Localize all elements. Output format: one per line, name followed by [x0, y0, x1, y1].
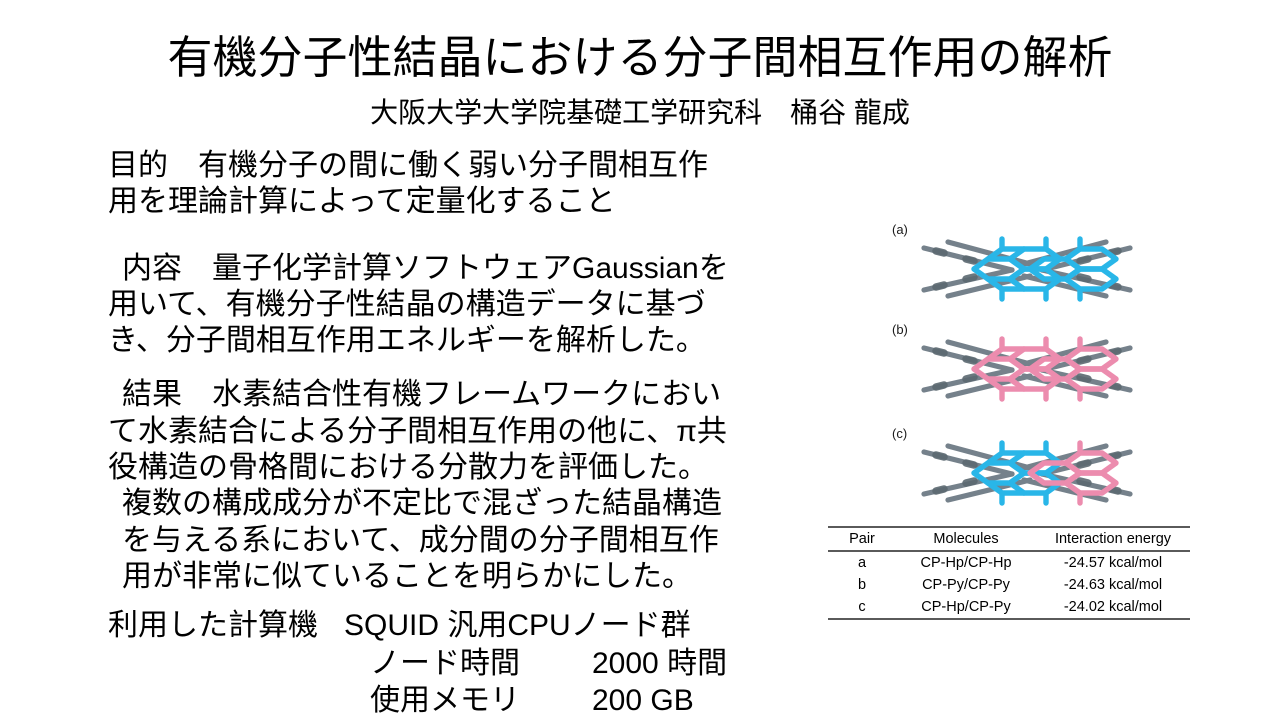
content-line-2: 用いて、有機分子性結晶の構造データに基づ [108, 287, 808, 323]
resource-row: ノード時間2000 時間 [108, 646, 868, 682]
result-line-5: を与える系において、成分間の分子間相互作 [108, 523, 808, 559]
content-line-1: 内容 量子化学計算ソフトウェアGaussianを [108, 251, 808, 287]
table-header-interaction-energy: Interaction energy [1036, 527, 1190, 551]
table-row: b CP-Py/CP-Py -24.63 kcal/mol [828, 574, 1190, 596]
resource-value: 200 GB [592, 683, 694, 719]
paragraph-content: 内容 量子化学計算ソフトウェアGaussianを 用いて、有機分子性結晶の構造デ… [108, 251, 808, 360]
purpose-line-1: 目的 有機分子の間に働く弱い分子間相互作 [108, 148, 808, 184]
cell-molecules: CP-Py/CP-Py [896, 574, 1036, 596]
molecule-diagram-b [862, 318, 1192, 418]
table-header-row: Pair Molecules Interaction energy [828, 527, 1190, 551]
slide-canvas: 有機分子性結晶における分子間相互作用の解析 大阪大学大学院基礎工学研究科 桶谷 … [0, 0, 1280, 720]
page-title: 有機分子性結晶における分子間相互作用の解析 [0, 34, 1280, 82]
purpose-line-2: 用を理論計算によって定量化すること [108, 184, 808, 220]
result-line-1: 結果 水素結合性有機フレームワークにおい [108, 377, 808, 413]
compute-resources-block: 利用した計算機SQUID 汎用CPUノード群 ノード時間2000 時間 使用メモ… [108, 608, 868, 719]
cell-pair: b [828, 574, 896, 596]
result-line-3: 役構造の骨格間における分散力を評価した。 [108, 450, 808, 486]
resource-key: ノード時間 [370, 646, 592, 682]
resource-key: 使用メモリ [370, 683, 592, 719]
resource-value: 2000 時間 [592, 646, 727, 682]
cell-pair: a [828, 551, 896, 574]
table-header-molecules: Molecules [896, 527, 1036, 551]
figure-panel-c: (c) [862, 422, 1192, 522]
cell-energy: -24.02 kcal/mol [1036, 596, 1190, 619]
cell-energy: -24.57 kcal/mol [1036, 551, 1190, 574]
table-row: c CP-Hp/CP-Py -24.02 kcal/mol [828, 596, 1190, 619]
compute-resources-rows: ノード時間2000 時間 使用メモリ200 GB [108, 646, 868, 719]
table-header-pair: Pair [828, 527, 896, 551]
figure-panel-a: (a) [862, 218, 1192, 318]
table-row: a CP-Hp/CP-Hp -24.57 kcal/mol [828, 551, 1190, 574]
paragraph-result: 結果 水素結合性有機フレームワークにおい て水素結合による分子間相互作用の他に、… [108, 377, 808, 595]
figure-panel-b: (b) [862, 318, 1192, 418]
molecule-diagram-a [862, 218, 1192, 318]
cell-pair: c [828, 596, 896, 619]
cell-energy: -24.63 kcal/mol [1036, 574, 1190, 596]
result-line-2: て水素結合による分子間相互作用の他に、π共 [108, 414, 808, 450]
body-text-column: 目的 有機分子の間に働く弱い分子間相互作 用を理論計算によって定量化すること 内… [108, 148, 808, 595]
resource-row: 使用メモリ200 GB [108, 683, 868, 719]
content-line-3: き、分子間相互作用エネルギーを解析した。 [108, 323, 808, 359]
cell-molecules: CP-Hp/CP-Py [896, 596, 1036, 619]
result-line-6: 用が非常に似ていることを明らかにした。 [108, 559, 808, 595]
molecular-structure-figure: (a) [862, 214, 1192, 524]
result-line-4: 複数の構成成分が不定比で混ざった結晶構造 [108, 486, 808, 522]
compute-resources-value: SQUID 汎用CPUノード群 [318, 609, 691, 642]
compute-resources-heading: 利用した計算機SQUID 汎用CPUノード群 [108, 608, 868, 644]
molecule-diagram-c [862, 422, 1192, 522]
paragraph-purpose: 目的 有機分子の間に働く弱い分子間相互作 用を理論計算によって定量化すること [108, 148, 808, 221]
cell-molecules: CP-Hp/CP-Hp [896, 551, 1036, 574]
compute-resources-label: 利用した計算機 [108, 609, 318, 642]
interaction-energy-table: Pair Molecules Interaction energy a CP-H… [828, 526, 1190, 620]
page-subtitle: 大阪大学大学院基礎工学研究科 桶谷 龍成 [0, 96, 1280, 130]
